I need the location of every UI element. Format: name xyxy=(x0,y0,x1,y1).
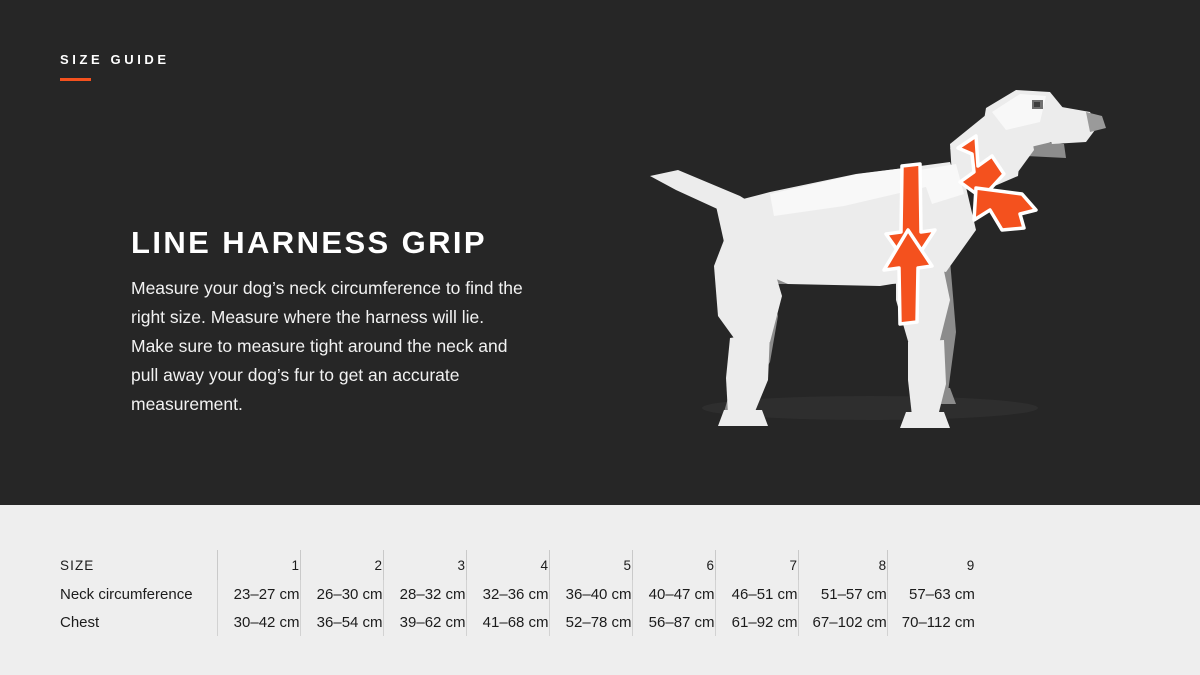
chest-value-6: 56–87 cm xyxy=(632,608,715,636)
eyebrow-label: SIZE GUIDE xyxy=(60,52,170,67)
size-table: SIZE 1 2 3 4 5 6 7 8 9 Neck circumferenc… xyxy=(60,550,975,636)
neck-measure-arrow-lower xyxy=(974,188,1036,230)
dog-eye xyxy=(1032,100,1043,109)
neck-value-3: 28–32 cm xyxy=(383,580,466,608)
neck-value-9: 57–63 cm xyxy=(887,580,975,608)
table-row-chest: Chest 30–42 cm 36–54 cm 39–62 cm 41–68 c… xyxy=(60,608,975,636)
size-header-4: 4 xyxy=(466,550,549,580)
neck-value-1: 23–27 cm xyxy=(217,580,300,608)
hero-panel: SIZE GUIDE LINE HARNESS GRIP Measure you… xyxy=(0,0,1200,505)
chest-value-2: 36–54 cm xyxy=(300,608,383,636)
size-header-7: 7 xyxy=(715,550,798,580)
size-guide-page: SIZE GUIDE LINE HARNESS GRIP Measure you… xyxy=(0,0,1200,675)
chest-value-7: 61–92 cm xyxy=(715,608,798,636)
chest-value-1: 30–42 cm xyxy=(217,608,300,636)
chest-value-9: 70–112 cm xyxy=(887,608,975,636)
table-row-neck: Neck circumference 23–27 cm 26–30 cm 28–… xyxy=(60,580,975,608)
neck-value-7: 46–51 cm xyxy=(715,580,798,608)
dog-illustration xyxy=(620,70,1120,440)
neck-value-5: 36–40 cm xyxy=(549,580,632,608)
size-header-5: 5 xyxy=(549,550,632,580)
size-header-8: 8 xyxy=(798,550,887,580)
chest-value-5: 52–78 cm xyxy=(549,608,632,636)
neck-value-8: 51–57 cm xyxy=(798,580,887,608)
size-table-header-row: SIZE 1 2 3 4 5 6 7 8 9 xyxy=(60,550,975,580)
neck-value-2: 26–30 cm xyxy=(300,580,383,608)
size-header-label: SIZE xyxy=(60,550,217,580)
row-label-neck: Neck circumference xyxy=(60,580,217,608)
size-header-3: 3 xyxy=(383,550,466,580)
neck-value-6: 40–47 cm xyxy=(632,580,715,608)
page-title: LINE HARNESS GRIP xyxy=(131,225,487,261)
instructions-text: Measure your dog’s neck circumference to… xyxy=(131,274,523,419)
size-header-1: 1 xyxy=(217,550,300,580)
eyebrow-accent-rule xyxy=(60,78,91,81)
row-label-chest: Chest xyxy=(60,608,217,636)
size-header-2: 2 xyxy=(300,550,383,580)
size-header-9: 9 xyxy=(887,550,975,580)
neck-value-4: 32–36 cm xyxy=(466,580,549,608)
size-table-panel: SIZE 1 2 3 4 5 6 7 8 9 Neck circumferenc… xyxy=(0,505,1200,675)
chest-value-8: 67–102 cm xyxy=(798,608,887,636)
size-header-6: 6 xyxy=(632,550,715,580)
chest-value-3: 39–62 cm xyxy=(383,608,466,636)
dog-body xyxy=(650,90,1106,428)
chest-value-4: 41–68 cm xyxy=(466,608,549,636)
